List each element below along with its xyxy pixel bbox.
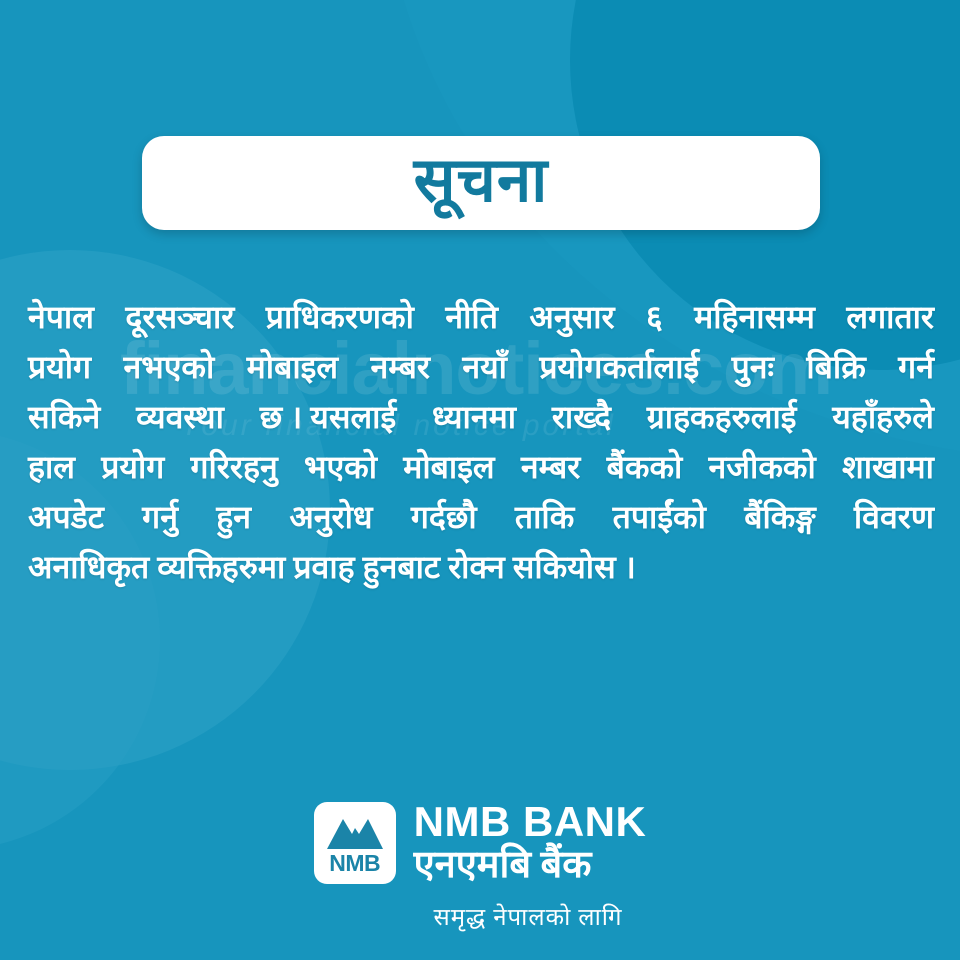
notice-word: ध्यानमा [432, 392, 516, 442]
notice-word: ग्राहकहरुलाई [647, 392, 797, 442]
notice-word: हुन [216, 492, 251, 542]
logo-mark-word: NMB [329, 852, 380, 875]
notice-word: व्यवस्था [136, 392, 224, 442]
brand-name-english: NMB BANK [414, 800, 647, 844]
notice-line: अपडेटगर्नुहुनअनुरोधगर्दछौताकितपाईंकोबैंक… [28, 492, 934, 542]
notice-line: सकिनेव्यवस्थाछ । यसलाईध्यानमाराख्दैग्राह… [28, 392, 934, 442]
notice-word: प्राधिकरणको [266, 292, 414, 342]
notice-word: नजीकको [709, 442, 816, 492]
notice-word: नम्बर [521, 442, 581, 492]
brand-text-block: NMB BANK एनएमबि बैंक [414, 800, 647, 886]
notice-word: ताकि [515, 492, 574, 542]
notice-word: यहाँहरुले [832, 392, 934, 442]
notice-word: अपडेट [28, 492, 104, 542]
mountain-icon [325, 815, 385, 849]
notice-word: पुनः [732, 342, 774, 392]
notice-word: अनाधिकृत व्यक्तिहरुमा प्रवाह हुनबाट रोक्… [28, 542, 636, 592]
notice-word: मोबाइल [403, 442, 494, 492]
notice-word: ६ [646, 292, 663, 342]
notice-word: बिक्रि [806, 342, 865, 392]
notice-word: तपाईंको [613, 492, 706, 542]
notice-word: विवरण [854, 492, 934, 542]
notice-word: शाखामा [842, 442, 934, 492]
notice-word: नम्बर [370, 342, 430, 392]
notice-word: राख्दै [552, 392, 611, 442]
notice-word: प्रयोगकर्तालाई [539, 342, 699, 392]
notice-word: नेपाल [28, 292, 94, 342]
notice-word: अनुसार [529, 292, 614, 342]
page-title: सूचना [414, 150, 549, 212]
notice-word: प्रयोग [28, 342, 91, 392]
notice-word: मोबाइल [247, 342, 338, 392]
notice-word: बैंकको [607, 442, 683, 492]
notice-word: प्रयोग [101, 442, 164, 492]
notice-word: नयाँ [462, 342, 507, 392]
notice-word: नभएको [123, 342, 214, 392]
notice-line: हालप्रयोगगरिरहनुभएकोमोबाइलनम्बरबैंककोनजी… [28, 442, 934, 492]
notice-word: गर्न [898, 342, 934, 392]
notice-line: अनाधिकृत व्यक्तिहरुमा प्रवाह हुनबाट रोक्… [28, 542, 934, 592]
notice-word: महिनासम्म [694, 292, 815, 342]
notice-word: बैंकिङ्ग [744, 492, 815, 542]
notice-body: नेपालदूरसञ्चारप्राधिकरणकोनीतिअनुसार६महिन… [28, 292, 934, 592]
notice-word: दूरसञ्चार [125, 292, 234, 342]
brand-name-nepali: एनएमबि बैंक [414, 844, 647, 887]
notice-word: नीति [445, 292, 498, 342]
title-banner: सूचना [142, 136, 820, 230]
notice-word: सकिने [28, 392, 100, 442]
notice-word: हाल [28, 442, 75, 492]
notice-word: भएको [304, 442, 377, 492]
notice-word: गर्दछौ [411, 492, 477, 542]
notice-word: लगातार [846, 292, 934, 342]
notice-word: गर्नु [142, 492, 178, 542]
notice-word: अनुरोध [289, 492, 372, 542]
nmb-logo-mark: NMB [314, 802, 396, 884]
footer: NMB NMB BANK एनएमबि बैंक समृद्ध नेपालको … [0, 800, 960, 933]
logo-lockup: NMB NMB BANK एनएमबि बैंक [314, 800, 647, 886]
notice-poster: financialnotices.com Your financial noti… [0, 0, 960, 960]
notice-line: प्रयोगनभएकोमोबाइलनम्बरनयाँप्रयोगकर्तालाई… [28, 342, 934, 392]
notice-word: गरिरहनु [191, 442, 278, 492]
notice-line: नेपालदूरसञ्चारप्राधिकरणकोनीतिअनुसार६महिन… [28, 292, 934, 342]
brand-tagline: समृद्ध नेपालको लागि [433, 900, 622, 933]
notice-word: छ । यसलाई [260, 392, 396, 442]
